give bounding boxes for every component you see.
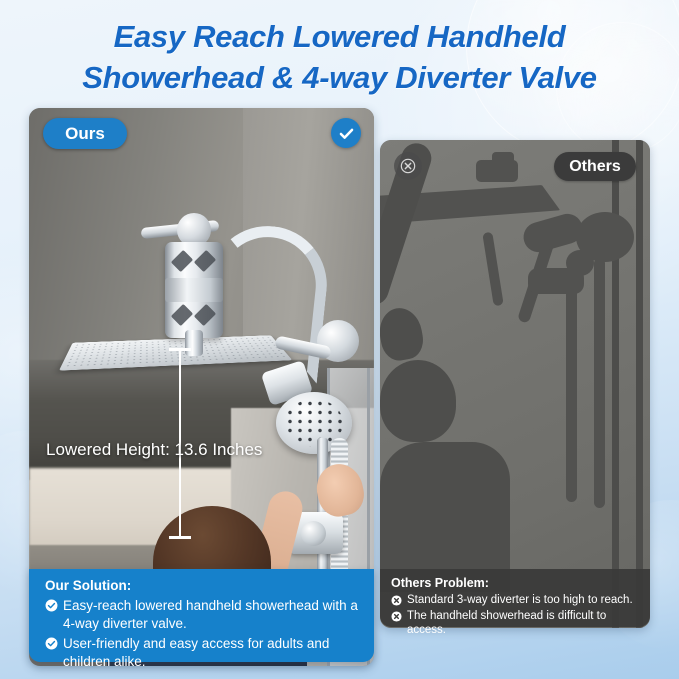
others-badge[interactable]: Others [554,152,636,181]
ours-benefit-list: Easy-reach lowered handheld showerhead w… [45,597,360,670]
silhouette-filter-top [492,152,514,166]
list-item-text: User-friendly and easy access for adults… [63,635,360,670]
others-badge-label: Others [569,158,621,176]
check-circle-icon [45,599,58,612]
filter-facet [194,304,216,326]
check-circle-icon [45,637,58,650]
product-comparison-infographic: Easy Reach Lowered Handheld Showerhead &… [0,0,679,679]
ours-badge-label: Ours [65,124,105,144]
silhouette-hose [594,258,605,508]
filter-stem [185,330,203,356]
ours-solution-caption: Our Solution: Easy-reach lowered handhel… [29,569,374,662]
filter-facet [171,304,193,326]
page-title-line-1: Easy Reach Lowered Handheld [0,16,679,57]
page-title: Easy Reach Lowered Handheld Showerhead &… [0,16,679,98]
x-circle-icon [394,152,422,180]
others-problem-caption: Others Problem: Standard 3-way diverter … [380,569,650,627]
list-item: Standard 3-way diverter is too high to r… [391,593,641,608]
list-item: User-friendly and easy access for adults… [45,635,360,670]
dimension-cap-top [169,348,191,351]
list-item: The handheld showerhead is difficult to … [391,609,641,638]
list-item-text: The handheld showerhead is difficult to … [407,609,641,638]
ours-badge[interactable]: Ours [43,118,127,149]
silhouette-glass-edge [636,140,643,628]
others-problem-list: Standard 3-way diverter is too high to r… [391,593,641,638]
silhouette-child-head [380,360,456,442]
dimension-label: Lowered Height: 13.6 Inches [46,440,262,460]
silhouette-hose [566,272,577,502]
silhouette-mounting-arm [482,232,503,307]
others-panel: Others [380,140,650,628]
page-title-line-2: Showerhead & 4-way Diverter Valve [0,57,679,98]
list-item-text: Easy-reach lowered handheld showerhead w… [63,597,360,632]
dimension-cap-bottom [169,536,191,539]
x-circle-icon [391,595,402,606]
filter-facet [171,250,193,272]
shower-filter [165,242,223,338]
silhouette-child-hand [380,305,426,364]
ours-caption-title: Our Solution: [45,578,360,593]
filter-facet [194,250,216,272]
list-item-text: Standard 3-way diverter is too high to r… [407,593,633,608]
others-silhouette-art [380,140,650,628]
check-circle-icon [331,118,361,148]
list-item: Easy-reach lowered handheld showerhead w… [45,597,360,632]
others-caption-title: Others Problem: [391,576,641,590]
x-circle-icon [391,611,402,622]
